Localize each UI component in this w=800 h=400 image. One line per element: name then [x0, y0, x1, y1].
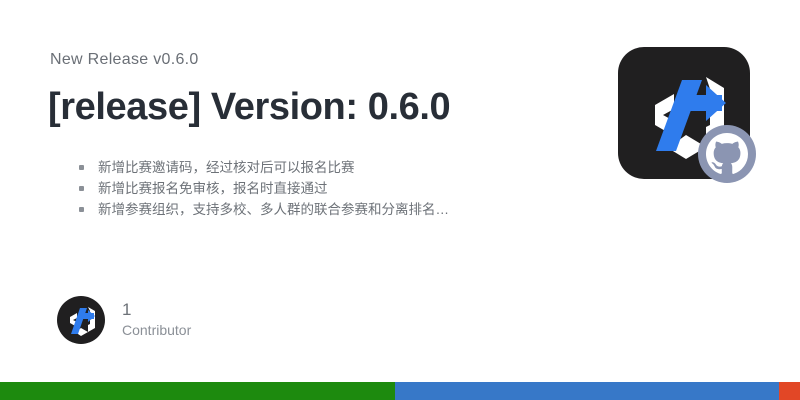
stripe-segment-red — [779, 382, 800, 400]
contributor-text: 1 Contributor — [122, 300, 191, 340]
list-item: 新增比赛邀请码，经过核对后可以报名比赛 — [76, 157, 449, 178]
list-item-text: 新增比赛报名免审核，报名时直接通过 — [98, 181, 328, 196]
list-item: 新增比赛报名免审核，报名时直接通过 — [76, 178, 449, 199]
contributor-avatar[interactable] — [57, 296, 105, 344]
github-icon — [698, 125, 756, 183]
list-item: 新增参赛组织，支持多校、多人群的联合参赛和分离排名… — [76, 199, 449, 220]
contributors-block: 1 Contributor — [57, 296, 191, 344]
release-card: New Release v0.6.0 [release] Version: 0.… — [0, 0, 800, 400]
language-stripe — [0, 382, 800, 400]
contributor-label: Contributor — [122, 321, 191, 340]
page-title: [release] Version: 0.6.0 — [48, 86, 450, 129]
release-eyebrow: New Release v0.6.0 — [50, 51, 199, 69]
list-item-text: 新增比赛邀请码，经过核对后可以报名比赛 — [98, 160, 355, 175]
list-item-text: 新增参赛组织，支持多校、多人群的联合参赛和分离排名… — [98, 202, 449, 217]
project-logo — [618, 47, 750, 179]
bullet-marker-icon — [79, 186, 84, 191]
changelog-list: 新增比赛邀请码，经过核对后可以报名比赛 新增比赛报名免审核，报名时直接通过 新增… — [76, 157, 449, 220]
stripe-segment-blue — [395, 382, 779, 400]
contributor-count: 1 — [122, 300, 191, 320]
stripe-segment-green — [0, 382, 395, 400]
bullet-marker-icon — [79, 165, 84, 170]
bullet-marker-icon — [79, 207, 84, 212]
